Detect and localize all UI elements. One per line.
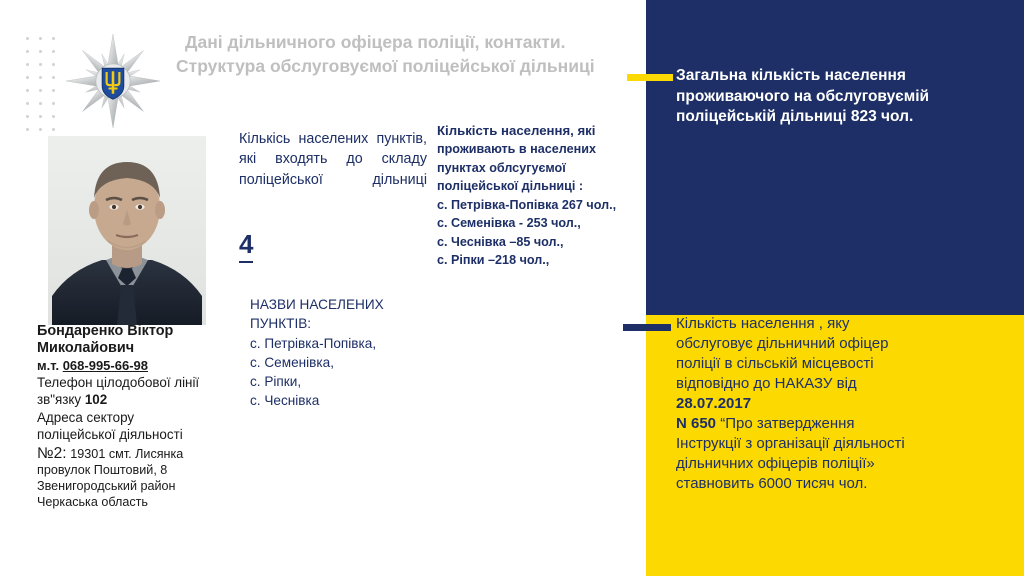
address-sector-number: №2: xyxy=(37,445,67,462)
dot xyxy=(26,63,29,66)
dot xyxy=(52,76,55,79)
blue-panel-line-1: Загальна кількість населення xyxy=(676,66,1006,87)
dot xyxy=(26,50,29,53)
officer-photo xyxy=(48,136,206,325)
dot xyxy=(52,115,55,118)
page-title-line-3: дільниці xyxy=(520,56,595,76)
blue-panel-text: Загальна кількість населення проживаючог… xyxy=(676,66,1006,128)
blue-panel-line-2: проживаючого на обслуговуємій xyxy=(676,87,1006,108)
settlements-count-label: Кількісь населених пунктів, які входять … xyxy=(239,129,427,190)
list-item: с. Ріпки –218 чол., xyxy=(437,251,627,270)
settlement-names-block: НАЗВИ НАСЕЛЕНИХ ПУНКТІВ: с. Петрівка-Поп… xyxy=(250,295,430,411)
settlements-count-number: 4 xyxy=(239,229,253,263)
dot xyxy=(52,63,55,66)
page-title-line-2: Структура обслуговуємої поліцейської xyxy=(176,56,515,76)
hotline-label-line-2: зв"язку xyxy=(37,392,81,407)
hotline-line-2: зв"язку 102 xyxy=(37,392,237,409)
dot xyxy=(52,128,55,131)
officer-details: Бондаренко Віктор Миколайович м.т. 068-9… xyxy=(37,323,237,511)
yellow-panel-line-3: поліції в сільській місцевості xyxy=(676,354,1006,374)
dot xyxy=(39,63,42,66)
decorative-dot-grid xyxy=(26,37,66,133)
dot xyxy=(39,128,42,131)
yellow-panel-line-7: Інструкції з організації діяльності xyxy=(676,434,1006,454)
officer-mobile: м.т. 068-995-66-98 xyxy=(37,358,237,374)
officer-name-line-1: Бондаренко Віктор xyxy=(37,323,237,340)
dot xyxy=(26,115,29,118)
address-locality: 19301 смт. Лисянка xyxy=(70,447,183,461)
order-title-start: “Про затвердження xyxy=(716,415,855,432)
dot xyxy=(26,102,29,105)
dot xyxy=(39,89,42,92)
dot xyxy=(26,76,29,79)
yellow-panel-line-6: N 650 “Про затвердження xyxy=(676,414,1006,434)
dot xyxy=(26,37,29,40)
settlements-count-value: 4 xyxy=(239,229,253,260)
settlement-names-heading-line-2: ПУНКТІВ: xyxy=(250,314,430,333)
dot xyxy=(26,128,29,131)
list-item: с. Чеснівка xyxy=(250,391,430,410)
dot xyxy=(52,102,55,105)
page-title-line-1: Дані дільничного офіцера поліції, контак… xyxy=(176,30,626,54)
address-line-2: провулок Поштовий, 8 xyxy=(37,463,237,479)
address-heading-line-1: Адреса сектору xyxy=(37,410,237,427)
blue-accent-bar xyxy=(623,324,671,331)
yellow-accent-bar xyxy=(627,74,673,81)
dot xyxy=(39,37,42,40)
address-heading-line-2: поліцейської діяльності xyxy=(37,427,237,444)
blue-info-panel xyxy=(646,0,1024,315)
hotline-number: 102 xyxy=(85,392,107,407)
dot xyxy=(39,50,42,53)
yellow-panel-line-4: відповідно до НАКАЗУ від xyxy=(676,374,1006,394)
yellow-panel-line-1: Кількість населення , яку xyxy=(676,314,1006,334)
yellow-panel-text: Кількість населення , яку обслуговує діл… xyxy=(676,314,1006,493)
dot xyxy=(39,102,42,105)
page-title: Дані дільничного офіцера поліції, контак… xyxy=(176,30,626,78)
yellow-panel-order-date: 28.07.2017 xyxy=(676,394,1006,414)
yellow-panel-line-9: ставновить 6000 тисяч чол. xyxy=(676,474,1006,494)
address-line-4: Черкаська область xyxy=(37,495,237,511)
dot xyxy=(52,37,55,40)
address-line-1: №2: 19301 смт. Лисянка xyxy=(37,444,237,464)
list-item: с. Чеснівка –85 чол., xyxy=(437,233,627,252)
list-item: с. Семенівка, xyxy=(250,353,430,372)
list-item: с. Ріпки, xyxy=(250,372,430,391)
order-number: N 650 xyxy=(676,415,716,432)
yellow-panel-line-8: дільничних офіцерів поліції» xyxy=(676,454,1006,474)
population-heading-line-2: проживають в населених xyxy=(437,140,627,159)
population-heading-line-3: пунктах облсугуємої xyxy=(437,159,627,178)
population-heading-line-1: Кількість населення, які xyxy=(437,121,627,140)
dot xyxy=(39,76,42,79)
list-item: с. Петрівка-Попівка, xyxy=(250,334,430,353)
mobile-label: м.т. xyxy=(37,358,59,373)
dot xyxy=(39,115,42,118)
address-line-3: Звенигородський район xyxy=(37,479,237,495)
officer-name-line-2: Миколайович xyxy=(37,340,237,357)
dot xyxy=(52,89,55,92)
ukraine-police-emblem-icon xyxy=(64,32,162,130)
mobile-number: 068-995-66-98 xyxy=(63,358,148,373)
yellow-panel-line-2: обслуговує дільничний офіцер xyxy=(676,334,1006,354)
dot xyxy=(26,89,29,92)
settlement-names-heading-line-1: НАЗВИ НАСЕЛЕНИХ xyxy=(250,295,430,314)
blue-panel-line-3: поліцейській дільниці 823 чол. xyxy=(676,107,1006,128)
list-item: с. Семенівка - 253 чол., xyxy=(437,214,627,233)
hotline-label-line-1: Телефон цілодобової лінії xyxy=(37,375,237,392)
dot xyxy=(52,50,55,53)
population-heading-line-4: поліцейської дільниці : xyxy=(437,177,627,196)
population-by-settlement-block: Кількість населення, які проживають в на… xyxy=(437,121,627,270)
list-item: с. Петрівка-Попівка 267 чол., xyxy=(437,196,627,215)
